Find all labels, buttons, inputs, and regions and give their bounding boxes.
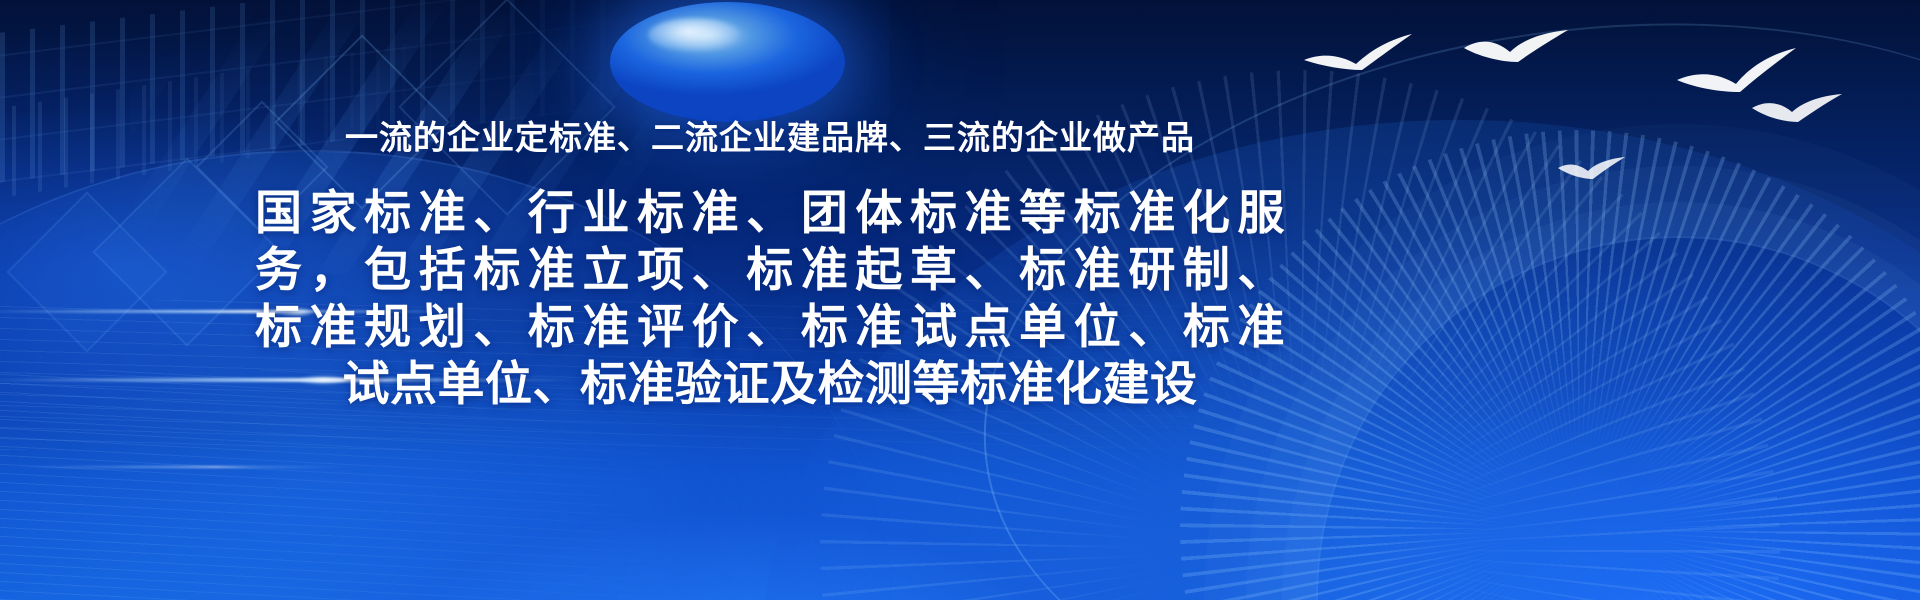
seagull-icon-3 (1674, 46, 1802, 98)
seagull-icon-4 (1750, 92, 1846, 132)
banner-headline: 一流的企业定标准、二流企业建品牌、三流的企业做产品 (345, 118, 1195, 158)
body-line-4: 试点单位、标准验证及检测等标准化建设 (255, 355, 1285, 412)
body-line-2: 务，包括标准立项、标准起草、标准研制、 (255, 241, 1285, 298)
seagull-icon-5 (1556, 156, 1628, 186)
body-line-3: 标准规划、标准评价、标准试点单位、标准 (255, 298, 1285, 355)
banner-body-text: 国家标准、行业标准、团体标准等标准化服 务，包括标准立项、标准起草、标准研制、 … (255, 184, 1285, 412)
banner-text-block: 一流的企业定标准、二流企业建品牌、三流的企业做产品 国家标准、行业标准、团体标准… (0, 0, 1540, 600)
promo-banner: 一流的企业定标准、二流企业建品牌、三流的企业做产品 国家标准、行业标准、团体标准… (0, 0, 1920, 600)
body-line-1: 国家标准、行业标准、团体标准等标准化服 (255, 184, 1285, 241)
